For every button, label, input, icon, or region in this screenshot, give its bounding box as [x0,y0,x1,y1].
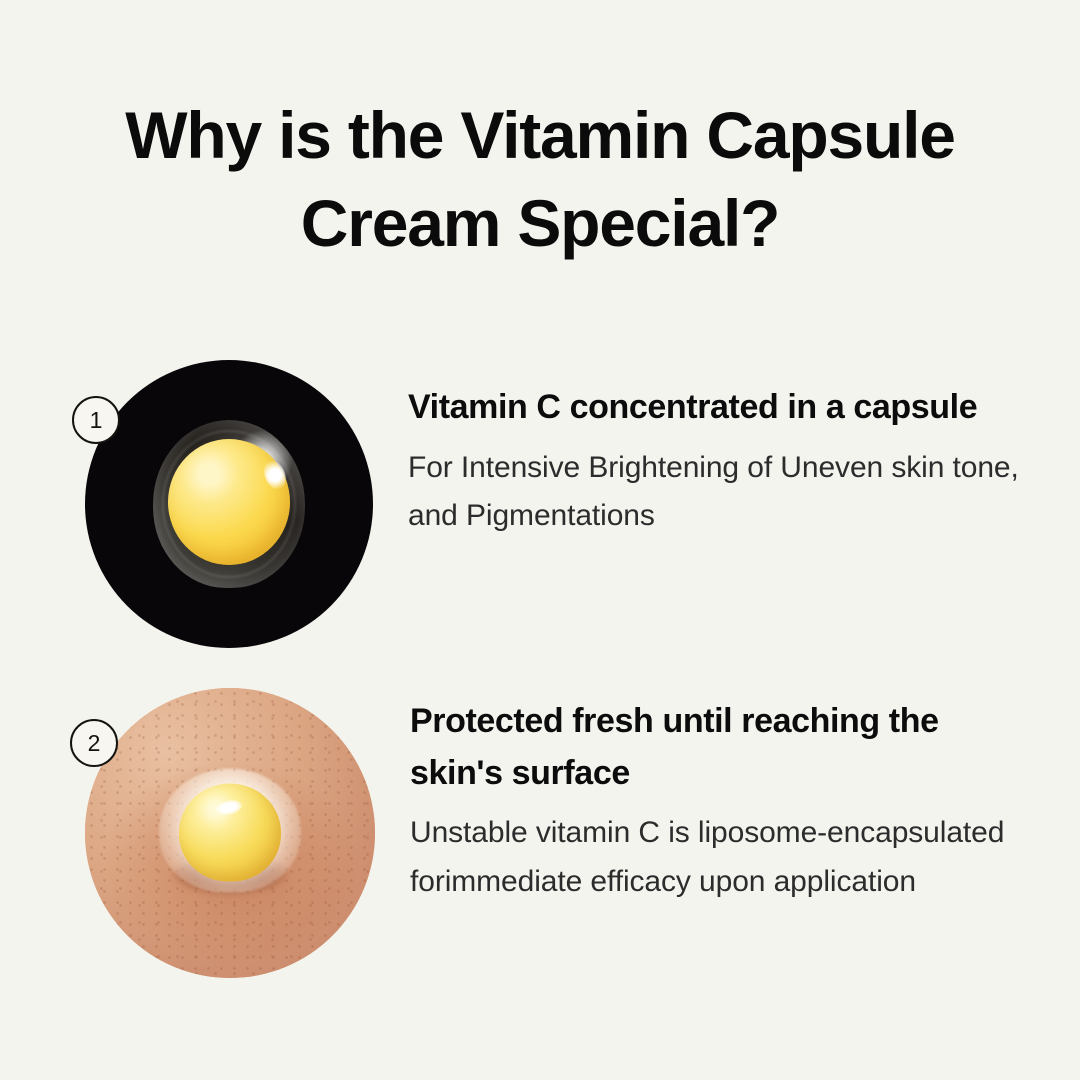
feature-1-media [85,360,373,648]
page-title-line-2: Cream Special? [64,180,1016,268]
feature-2-title: Protected fresh until reaching the skin'… [410,696,1022,799]
droplet-core-icon [179,784,281,882]
feature-2-body: Unstable vitamin C is liposome-encapsula… [410,809,1022,906]
feature-2-media [85,688,375,978]
feature-1-copy: Vitamin C concentrated in a capsule For … [408,360,1080,541]
feature-1-body: For Intensive Brightening of Uneven skin… [408,444,1022,541]
capsule-core-icon [168,439,290,565]
feature-row-1: Vitamin C concentrated in a capsule For … [0,360,1080,648]
page-title-line-1: Why is the Vitamin Capsule [64,92,1016,180]
capsule-droplet-icon [159,769,301,893]
promo-page: Why is the Vitamin Capsule Cream Special… [0,0,1080,1080]
step-badge-2: 2 [70,719,118,767]
capsule-black-background-image [85,360,373,648]
step-badge-1: 1 [72,396,120,444]
capsule-on-skin-image [85,688,375,978]
feature-2-copy: Protected fresh until reaching the skin'… [410,688,1080,907]
feature-row-2: Protected fresh until reaching the skin'… [0,688,1080,978]
feature-1-title: Vitamin C concentrated in a capsule [408,382,1022,434]
capsule-shell-icon [153,420,305,588]
page-title: Why is the Vitamin Capsule Cream Special… [0,92,1080,268]
